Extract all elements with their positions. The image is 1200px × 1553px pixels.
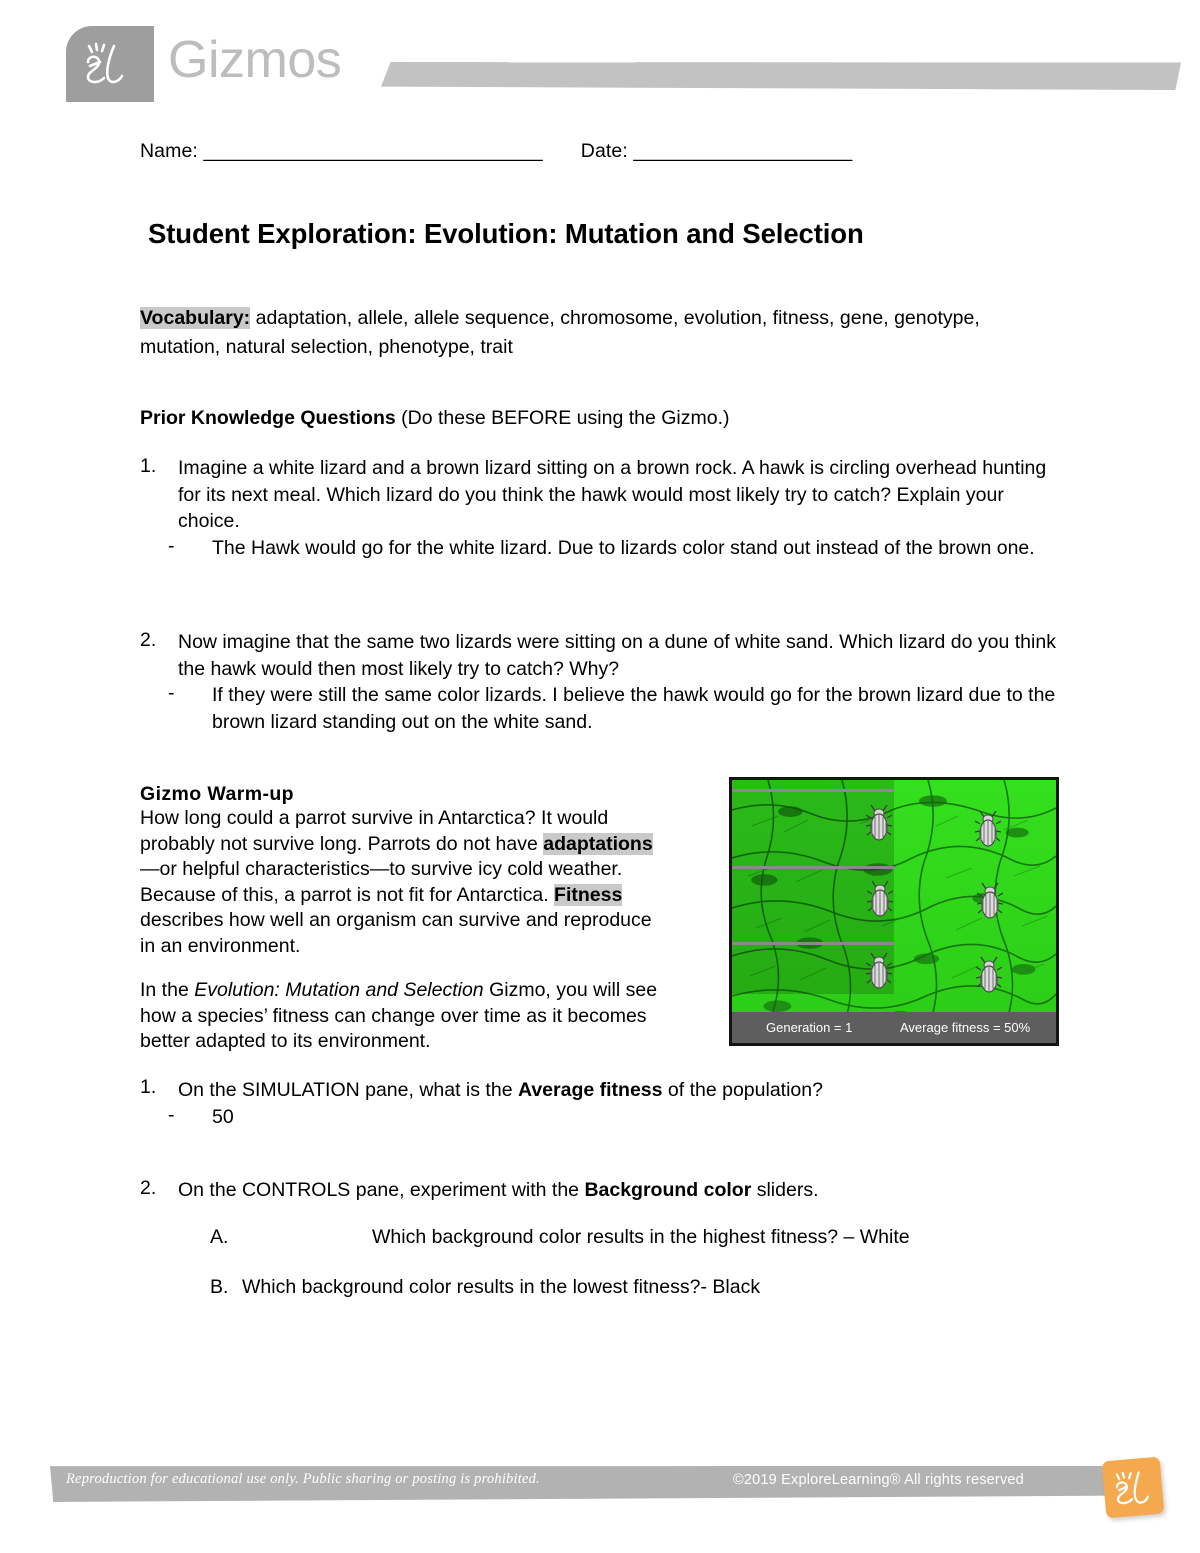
student-answer: The Hawk would go for the white lizard. … [212, 535, 1070, 562]
prior-knowledge-heading: Prior Knowledge Questions (Do these BEFO… [140, 407, 730, 430]
footer-copyright-notice: Reproduction for educational use only. P… [66, 1471, 540, 1488]
footer-rights-text: ©2019 ExploreLearning® All rights reserv… [733, 1472, 1024, 1488]
question-text: On the CONTROLS pane, experiment with th… [178, 1177, 1080, 1204]
gizmo-name-italic: Evolution: Mutation and Selection [194, 979, 483, 1001]
warmup-p1-b: —or helpful characteristics—to survive i… [140, 858, 622, 906]
el-script-icon-orange [1102, 1457, 1165, 1519]
brand-wordmark: Gizmos [168, 30, 341, 90]
grid-line-3 [732, 942, 894, 945]
generation-readout: Generation = 1 [766, 1020, 852, 1035]
name-blank: _______________________________ [203, 140, 542, 162]
prior-knowledge-question-2: 2. Now imagine that the same two lizards… [140, 629, 1075, 735]
sub-answer-b: B.Which background color results in the … [210, 1276, 760, 1299]
answer-dash: - [168, 1104, 175, 1127]
header-accent-bar [381, 62, 1181, 90]
warmup-p1-a: How long could a parrot survive in Antar… [140, 807, 608, 855]
q2-post: sliders. [751, 1179, 818, 1201]
prior-knowledge-heading-bold: Prior Knowledge Questions [140, 407, 396, 429]
simulation-statusbar: Generation = 1 Average fitness = 50% [732, 1012, 1056, 1043]
name-date-line: Name: _______________________________Dat… [140, 140, 852, 163]
q2-pre: On the CONTROLS pane, experiment with th… [178, 1179, 584, 1201]
grid-line-1 [732, 789, 894, 792]
beetle-4 [977, 882, 1003, 920]
question-number: 1. [140, 1076, 170, 1099]
gizmo-question-1: 1. On the SIMULATION pane, what is the A… [140, 1076, 1080, 1131]
gizmos-logo-tile [66, 26, 154, 102]
term-fitness: Fitness [554, 884, 622, 906]
beetle-1 [866, 804, 892, 842]
question-text: Now imagine that the same two lizards we… [178, 629, 1075, 682]
el-script-icon [66, 26, 154, 102]
page-title: Student Exploration: Evolution: Mutation… [148, 218, 864, 250]
q1-pre: On the SIMULATION pane, what is the [178, 1079, 518, 1101]
warmup-paragraph-2: In the Evolution: Mutation and Selection… [140, 978, 670, 1055]
question-text: Imagine a white lizard and a brown lizar… [178, 455, 1070, 535]
average-fitness-readout: Average fitness = 50% [900, 1020, 1030, 1035]
date-blank: ____________________ [633, 140, 852, 162]
question-number: 2. [140, 629, 170, 652]
page-header: Gizmos [0, 0, 1200, 120]
question-text: On the SIMULATION pane, what is the Aver… [178, 1076, 1080, 1104]
sub-answer-a-text: Which background color results in the hi… [372, 1226, 910, 1248]
question-number: 1. [140, 455, 170, 478]
answer-dash: - [168, 682, 175, 705]
student-answer: 50 [212, 1104, 1080, 1131]
beetle-2 [975, 810, 1001, 848]
term-adaptations: adaptations [543, 833, 652, 855]
prior-knowledge-heading-rest: (Do these BEFORE using the Gizmo.) [396, 407, 730, 429]
evolution-simulation-screenshot: Generation = 1 Average fitness = 50% [729, 777, 1059, 1046]
prior-knowledge-question-1: 1. Imagine a white lizard and a brown li… [140, 455, 1070, 561]
sub-answer-b-text: Which background color results in the lo… [242, 1276, 760, 1298]
answer-dash: - [168, 535, 175, 558]
date-label: Date: [581, 140, 628, 162]
q1-post: of the population? [662, 1079, 822, 1101]
sub-answer-b-letter: B. [210, 1276, 242, 1299]
beetle-5 [866, 952, 892, 990]
sub-answer-a-letter: A. [210, 1226, 372, 1249]
vocabulary-terms: adaptation, allele, allele sequence, chr… [140, 307, 980, 358]
warmup-p1-c: describes how well an organism can survi… [140, 909, 652, 957]
question-number: 2. [140, 1177, 170, 1200]
grid-line-2 [732, 866, 894, 869]
sub-answer-a: A.Which background color results in the … [210, 1226, 910, 1249]
warmup-heading: Gizmo Warm-up [140, 783, 294, 806]
beetle-3 [867, 880, 893, 918]
beetle-6 [976, 956, 1002, 994]
warmup-p2-a: In the [140, 979, 194, 1001]
term-average-fitness: Average fitness [518, 1079, 663, 1101]
term-background-color: Background color [584, 1179, 751, 1201]
vocabulary-block: Vocabulary: adaptation, allele, allele s… [140, 304, 1020, 362]
warmup-paragraph-1: How long could a parrot survive in Antar… [140, 806, 670, 959]
vocabulary-label: Vocabulary: [140, 307, 250, 329]
name-label: Name: [140, 140, 198, 162]
gizmo-question-2: 2. On the CONTROLS pane, experiment with… [140, 1177, 1080, 1204]
student-answer: If they were still the same color lizard… [212, 682, 1075, 735]
